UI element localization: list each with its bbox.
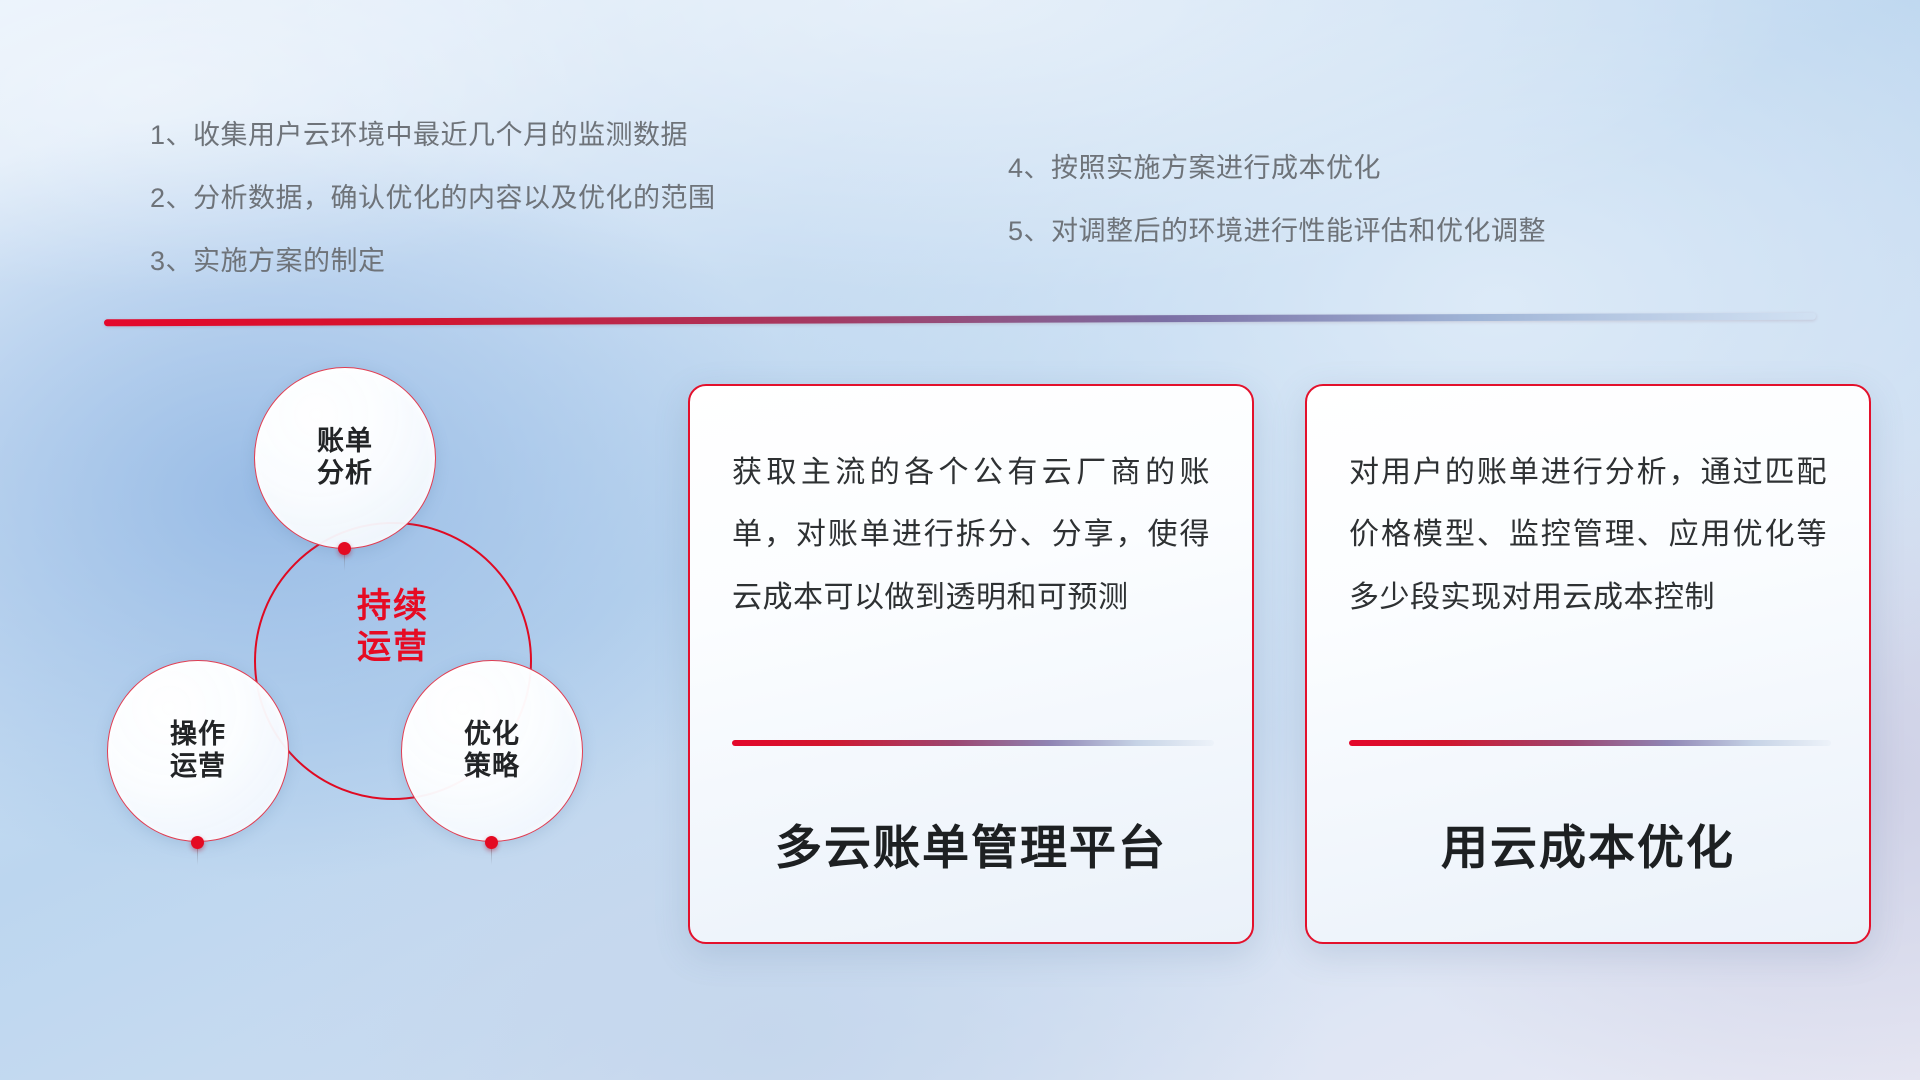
section-divider-rule: [104, 313, 1816, 327]
bubble-right-line2: 策略: [464, 751, 520, 783]
card-title: 用云成本优化: [1307, 809, 1869, 878]
bubble-top-line1: 账单: [317, 426, 373, 458]
steps-list-right: 4、按照实施方案进行成本优化 5、对调整后的环境进行性能评估和优化调整: [1008, 155, 1546, 245]
center-label-line1: 持续: [254, 586, 532, 627]
diagram-node-dot-top: [338, 542, 351, 555]
card-body-text: 对用户的账单进行分析，通过匹配价格模型、监控管理、应用优化等多少段实现对用云成本…: [1349, 442, 1827, 629]
step-item-3: 3、实施方案的制定: [150, 248, 716, 275]
diagram-tick-left: [197, 849, 198, 865]
feature-card-multi-cloud-billing[interactable]: 获取主流的各个公有云厂商的账单，对账单进行拆分、分享，使得云成本可以做到透明和可…: [688, 384, 1254, 944]
card-body-text: 获取主流的各个公有云厂商的账单，对账单进行拆分、分享，使得云成本可以做到透明和可…: [732, 442, 1210, 629]
bubble-left-line1: 操作: [170, 719, 226, 751]
diagram-bubble-operations[interactable]: 操作 运营: [107, 660, 289, 842]
diagram-bubble-billing-analysis[interactable]: 账单 分析: [254, 367, 436, 549]
card-divider-rule: [1349, 740, 1831, 746]
bubble-left-line2: 运营: [170, 751, 226, 783]
diagram-tick-top: [344, 555, 345, 571]
diagram-node-dot-left: [191, 836, 204, 849]
diagram-center-label: 持续 运营: [254, 586, 532, 669]
cycle-diagram: 持续 运营 账单 分析 操作 运营 优化 策略: [90, 350, 650, 950]
steps-list-left: 1、收集用户云环境中最近几个月的监测数据 2、分析数据，确认优化的内容以及优化的…: [150, 122, 716, 275]
card-title: 多云账单管理平台: [690, 809, 1252, 878]
step-item-2: 2、分析数据，确认优化的内容以及优化的范围: [150, 185, 716, 212]
feature-card-cloud-cost-optimization[interactable]: 对用户的账单进行分析，通过匹配价格模型、监控管理、应用优化等多少段实现对用云成本…: [1305, 384, 1871, 944]
bubble-right-line1: 优化: [464, 719, 520, 751]
card-divider-rule: [732, 740, 1214, 746]
diagram-tick-right: [491, 849, 492, 865]
diagram-bubble-optimization-strategy[interactable]: 优化 策略: [401, 660, 583, 842]
step-item-1: 1、收集用户云环境中最近几个月的监测数据: [150, 122, 716, 149]
step-item-4: 4、按照实施方案进行成本优化: [1008, 155, 1546, 182]
step-item-5: 5、对调整后的环境进行性能评估和优化调整: [1008, 218, 1546, 245]
diagram-node-dot-right: [485, 836, 498, 849]
slide-canvas: 1、收集用户云环境中最近几个月的监测数据 2、分析数据，确认优化的内容以及优化的…: [0, 0, 1920, 1080]
bubble-top-line2: 分析: [317, 458, 373, 490]
